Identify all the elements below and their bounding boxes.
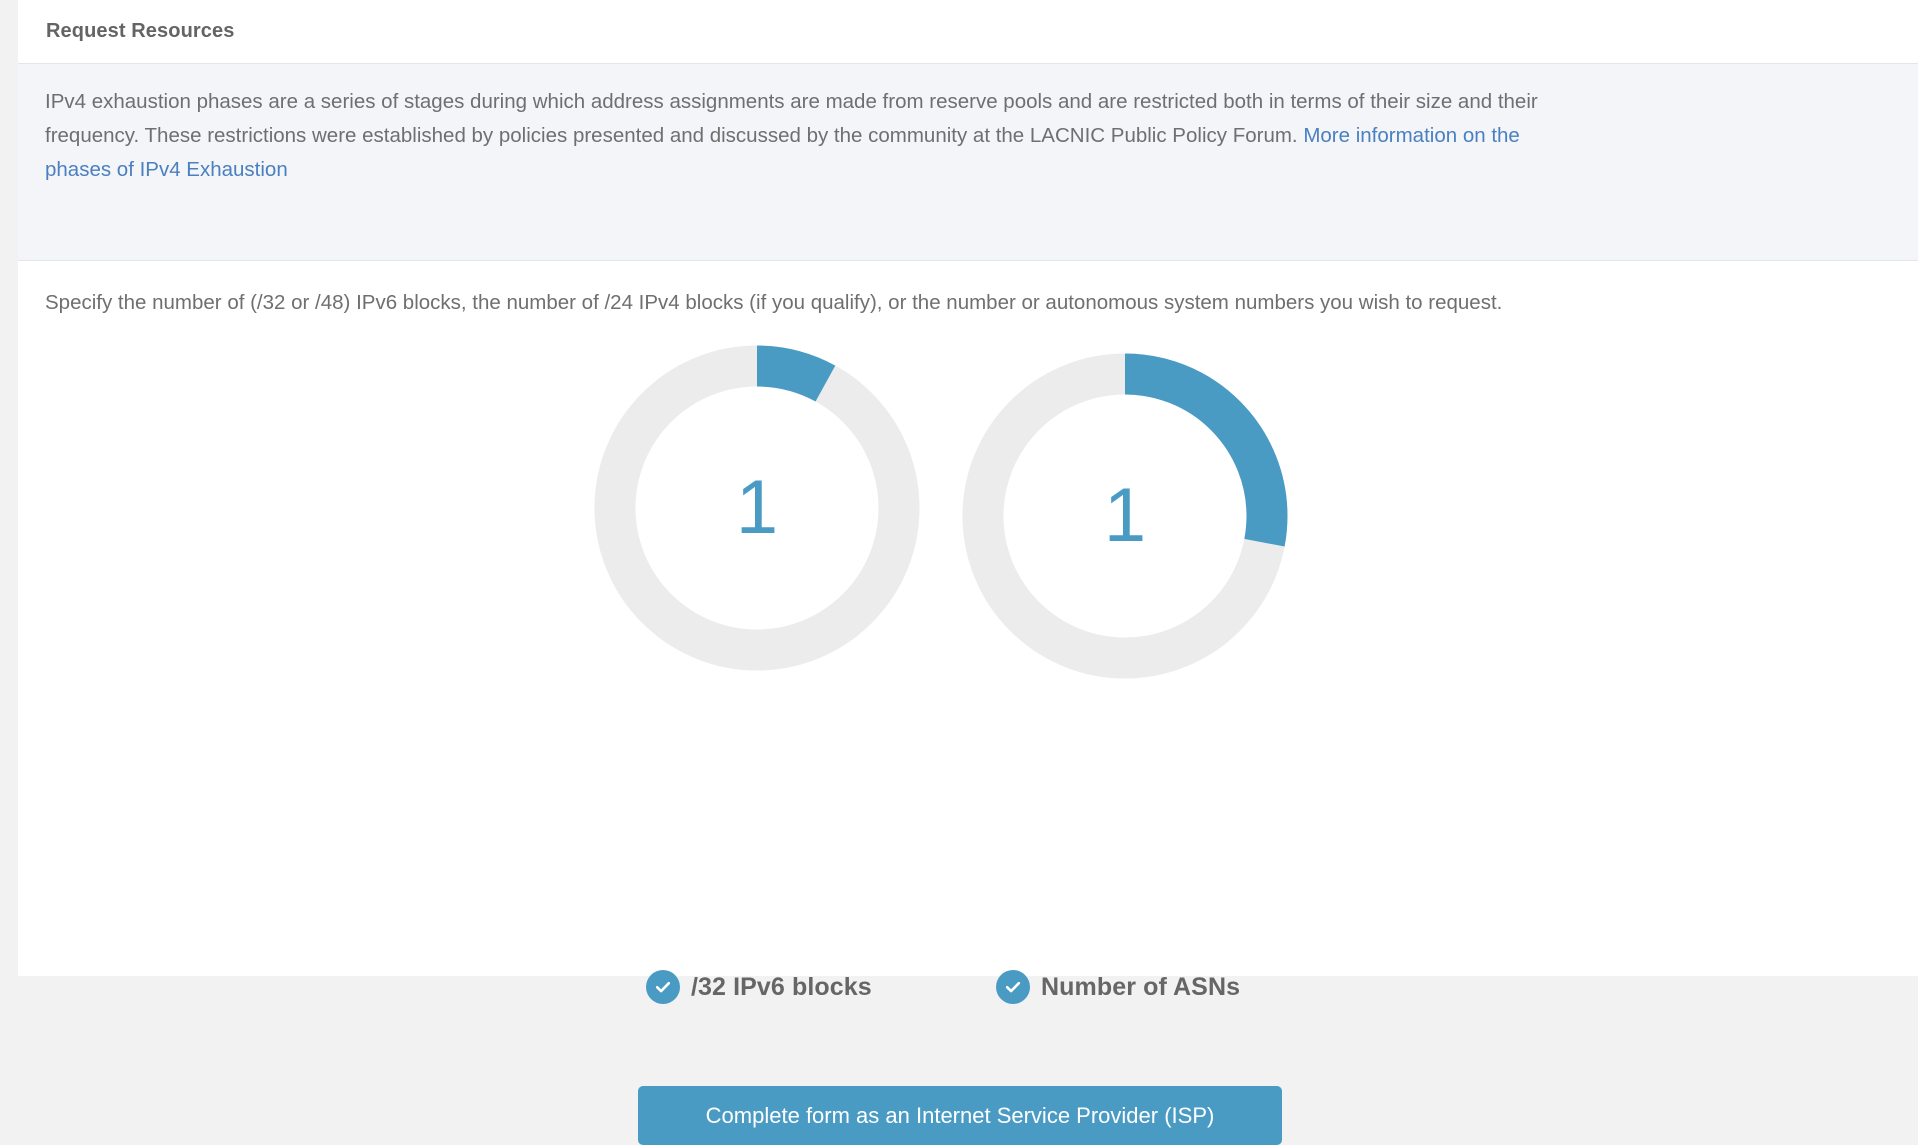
request-resources-card: Request Resources IPv4 exhaustion phases… (18, 0, 1918, 976)
gauge-label-text-ipv6: /32 IPv6 blocks (691, 973, 872, 1002)
donut-chart-ipv6[interactable]: 1 (594, 345, 920, 671)
specify-instructions: Specify the number of (/32 or /48) IPv6 … (45, 287, 1502, 319)
card-header: Request Resources (18, 0, 1918, 63)
gauge-label-asn[interactable]: Number of ASNs (996, 970, 1240, 1004)
gauge-label-ipv6[interactable]: /32 IPv6 blocks (646, 970, 872, 1004)
info-alert-text: IPv4 exhaustion phases are a series of s… (45, 85, 1545, 187)
gauge-ipv6-blocks[interactable]: 1 (592, 345, 922, 671)
gauge-asn-count[interactable]: 1 (960, 353, 1290, 679)
check-circle-icon (996, 970, 1030, 1004)
complete-form-isp-button[interactable]: Complete form as an Internet Service Pro… (638, 1086, 1282, 1145)
page-root: Request Resources IPv4 exhaustion phases… (0, 0, 1918, 976)
check-circle-icon (646, 970, 680, 1004)
donut-svg-ipv6 (594, 345, 920, 671)
info-alert-box: IPv4 exhaustion phases are a series of s… (18, 63, 1918, 261)
gauge-group: 1 1 (18, 345, 1918, 645)
donut-chart-asn[interactable]: 1 (962, 353, 1288, 679)
request-body: Specify the number of (/32 or /48) IPv6 … (18, 261, 1918, 976)
gauge-label-text-asn: Number of ASNs (1041, 973, 1240, 1002)
page-title: Request Resources (46, 20, 234, 43)
donut-track-ipv6 (615, 366, 899, 650)
donut-svg-asn (962, 353, 1288, 679)
